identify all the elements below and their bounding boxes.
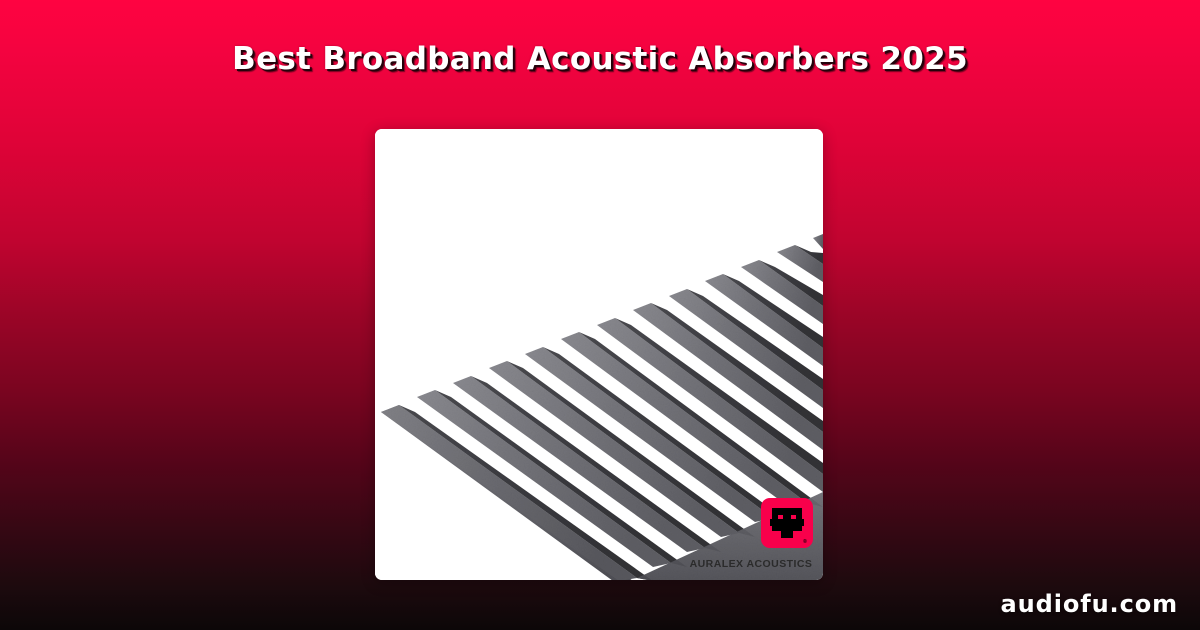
- auralex-mark-svg: ®: [761, 498, 813, 548]
- brand-logo: ® AURALEX ACOUSTICS: [685, 498, 817, 578]
- svg-text:®: ®: [803, 538, 807, 545]
- auralex-anvil-icon: ®: [761, 498, 813, 548]
- og-image-card: Best Broadband Acoustic Absorbers 2025: [0, 0, 1200, 630]
- product-image-card: ® AURALEX ACOUSTICS: [375, 129, 823, 580]
- product-image-stage: ® AURALEX ACOUSTICS: [375, 129, 823, 580]
- site-watermark: audiofu.com: [1001, 592, 1178, 616]
- title-area: Best Broadband Acoustic Absorbers 2025: [0, 0, 1200, 118]
- page-title: Best Broadband Acoustic Absorbers 2025: [232, 42, 968, 76]
- brand-name-label: AURALEX ACOUSTICS: [685, 558, 817, 570]
